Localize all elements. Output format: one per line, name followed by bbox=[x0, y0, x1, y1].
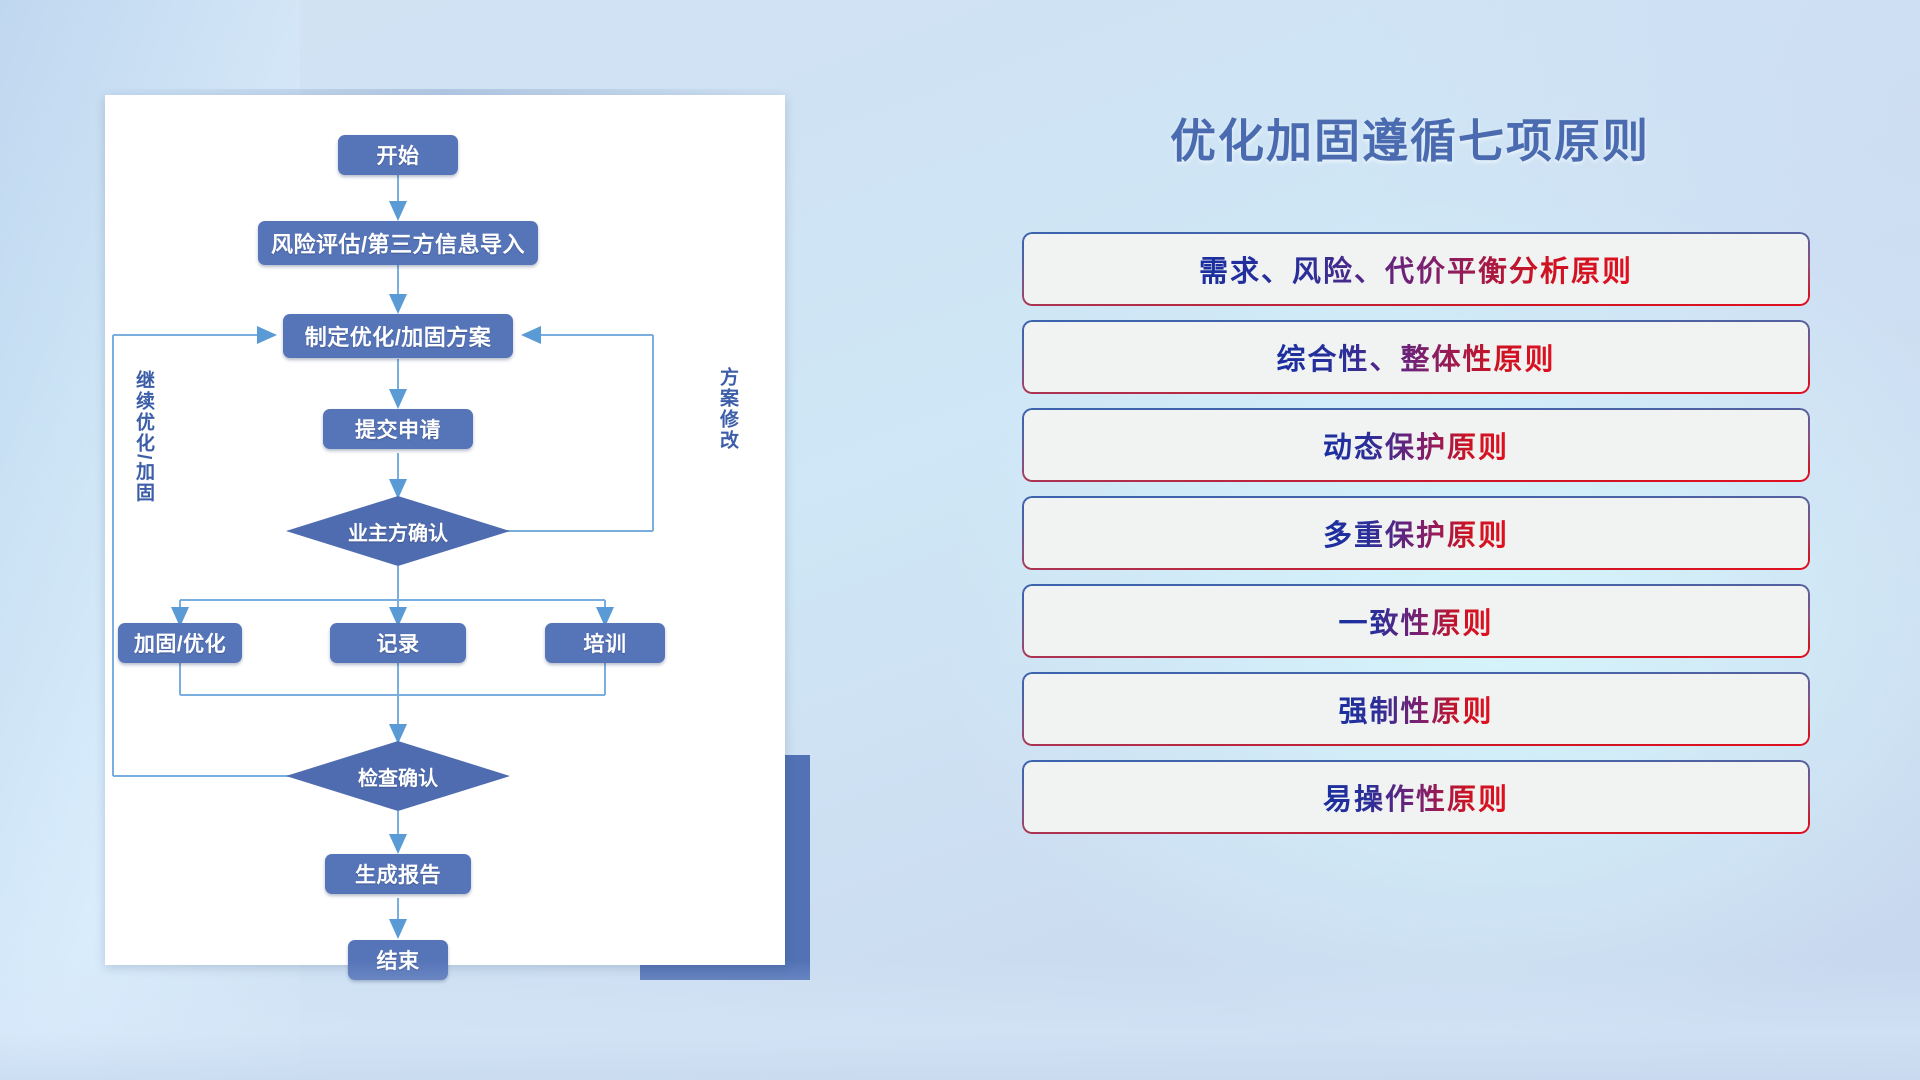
flow-decision-check-confirm-label: 检查确认 bbox=[358, 762, 438, 791]
principle-card-7-label: 易操作性原则 bbox=[1323, 776, 1509, 818]
principle-card-1-label: 需求、风险、代价平衡分析原则 bbox=[1199, 248, 1633, 290]
principle-card-3-label: 动态保护原则 bbox=[1323, 424, 1509, 466]
principle-card-5[interactable]: 一致性原则 bbox=[1022, 584, 1810, 658]
flow-node-report[interactable]: 生成报告 bbox=[325, 854, 471, 894]
principle-card-2[interactable]: 综合性、整体性原则 bbox=[1022, 320, 1810, 394]
flow-node-plan[interactable]: 制定优化/加固方案 bbox=[283, 314, 513, 358]
flow-node-start[interactable]: 开始 bbox=[338, 135, 458, 175]
principles-list: 需求、风险、代价平衡分析原则 综合性、整体性原则 动态保护原则 多重保护原则 一… bbox=[1022, 232, 1810, 848]
principle-card-2-label: 综合性、整体性原则 bbox=[1276, 336, 1555, 378]
flow-node-plan-label: 制定优化/加固方案 bbox=[305, 320, 492, 352]
flow-node-record-label: 记录 bbox=[377, 628, 420, 658]
flow-edge-label-left-loop: 继续优化/加固 bbox=[133, 370, 153, 503]
slide-canvas: 开始 风险评估/第三方信息导入 制定优化/加固方案 提交申请 业主方确认 加固/… bbox=[0, 0, 1920, 1080]
flow-decision-owner-confirm-label: 业主方确认 bbox=[348, 517, 448, 546]
principle-card-6-label: 强制性原则 bbox=[1338, 688, 1493, 730]
flow-node-submit-label: 提交申请 bbox=[355, 414, 441, 444]
flow-node-report-label: 生成报告 bbox=[355, 859, 441, 889]
flow-node-reinforce[interactable]: 加固/优化 bbox=[118, 623, 242, 663]
principle-card-4-label: 多重保护原则 bbox=[1323, 512, 1509, 554]
flow-node-risk-assessment[interactable]: 风险评估/第三方信息导入 bbox=[258, 221, 538, 265]
flow-node-training-label: 培训 bbox=[584, 628, 627, 658]
flowchart-card: 开始 风险评估/第三方信息导入 制定优化/加固方案 提交申请 业主方确认 加固/… bbox=[105, 95, 785, 965]
principle-card-5-label: 一致性原则 bbox=[1338, 600, 1493, 642]
flow-node-risk-assessment-label: 风险评估/第三方信息导入 bbox=[271, 227, 525, 259]
flow-node-end-label: 结束 bbox=[377, 945, 420, 975]
principle-card-7[interactable]: 易操作性原则 bbox=[1022, 760, 1810, 834]
principle-card-4[interactable]: 多重保护原则 bbox=[1022, 496, 1810, 570]
flow-edge-label-right-loop: 方案修改 bbox=[717, 367, 737, 451]
flow-node-submit[interactable]: 提交申请 bbox=[323, 409, 473, 449]
flow-node-start-label: 开始 bbox=[377, 140, 420, 170]
principle-card-3[interactable]: 动态保护原则 bbox=[1022, 408, 1810, 482]
flow-node-training[interactable]: 培训 bbox=[545, 623, 665, 663]
principle-card-6[interactable]: 强制性原则 bbox=[1022, 672, 1810, 746]
flow-node-reinforce-label: 加固/优化 bbox=[134, 628, 226, 658]
principle-card-1[interactable]: 需求、风险、代价平衡分析原则 bbox=[1022, 232, 1810, 306]
flow-node-record[interactable]: 记录 bbox=[330, 623, 466, 663]
page-title: 优化加固遵循七项原则 bbox=[1030, 105, 1790, 171]
flow-node-end[interactable]: 结束 bbox=[348, 940, 448, 980]
